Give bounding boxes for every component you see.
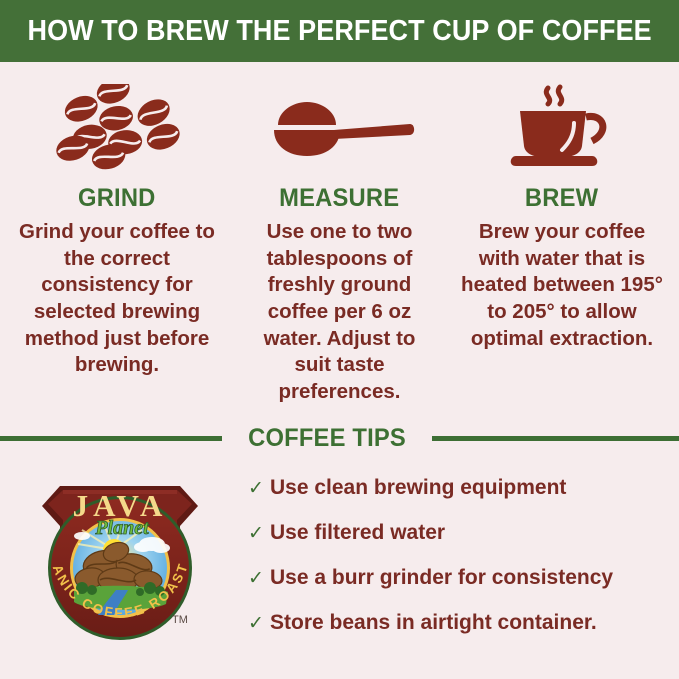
tip-text: Use clean brewing equipment (270, 476, 566, 499)
check-icon: ✓ (248, 614, 270, 633)
trademark-symbol: TM (172, 614, 188, 626)
tablespoon-scoop-icon (229, 84, 451, 170)
list-item: ✓ Use filtered water (248, 521, 679, 544)
divider-rule-right (432, 436, 679, 441)
coffee-cup-icon (451, 84, 673, 170)
coffee-tips-divider: COFFEE TIPS (0, 418, 679, 458)
tip-text: Use a burr grinder for consistency (270, 566, 613, 589)
bottom-section: ORGANIC COFFEE ROASTERS JAVA Planet TM ✓… (0, 462, 679, 679)
list-item: ✓ Use a burr grinder for consistency (248, 566, 679, 589)
infographic-page: HOW TO BREW THE PERFECT CUP OF COFFEE (0, 0, 679, 679)
step-title-measure: MEASURE (279, 184, 399, 213)
check-icon: ✓ (248, 524, 270, 543)
step-measure: MEASURE Use one to two tablespoons of fr… (229, 62, 451, 405)
java-planet-logo: ORGANIC COFFEE ROASTERS JAVA Planet TM (0, 462, 240, 642)
step-body-grind: Grind your coffee to the correct consist… (6, 219, 228, 379)
check-icon: ✓ (248, 479, 270, 498)
step-brew: BREW Brew your coffee with water that is… (451, 62, 673, 352)
tip-text: Use filtered water (270, 521, 445, 544)
check-icon: ✓ (248, 569, 270, 588)
logo-brand-script: Planet (94, 517, 150, 539)
step-body-brew: Brew your coffee with water that is heat… (451, 219, 673, 352)
step-grind: GRIND Grind your coffee to the correct c… (6, 62, 228, 379)
tips-list: ✓ Use clean brewing equipment ✓ Use filt… (240, 462, 679, 656)
step-title-brew: BREW (525, 184, 598, 213)
step-title-grind: GRIND (78, 184, 155, 213)
step-body-measure: Use one to two tablespoons of freshly gr… (229, 219, 451, 405)
divider-rule-left (0, 436, 222, 441)
header-banner: HOW TO BREW THE PERFECT CUP OF COFFEE (0, 0, 679, 62)
coffee-beans-icon (6, 84, 228, 170)
coffee-tips-heading: COFFEE TIPS (227, 424, 427, 453)
page-title: HOW TO BREW THE PERFECT CUP OF COFFEE (27, 15, 651, 48)
steps-row: GRIND Grind your coffee to the correct c… (0, 62, 679, 417)
list-item: ✓ Use clean brewing equipment (248, 476, 679, 499)
list-item: ✓ Store beans in airtight container. (248, 611, 679, 634)
tip-text: Store beans in airtight container. (270, 611, 597, 634)
